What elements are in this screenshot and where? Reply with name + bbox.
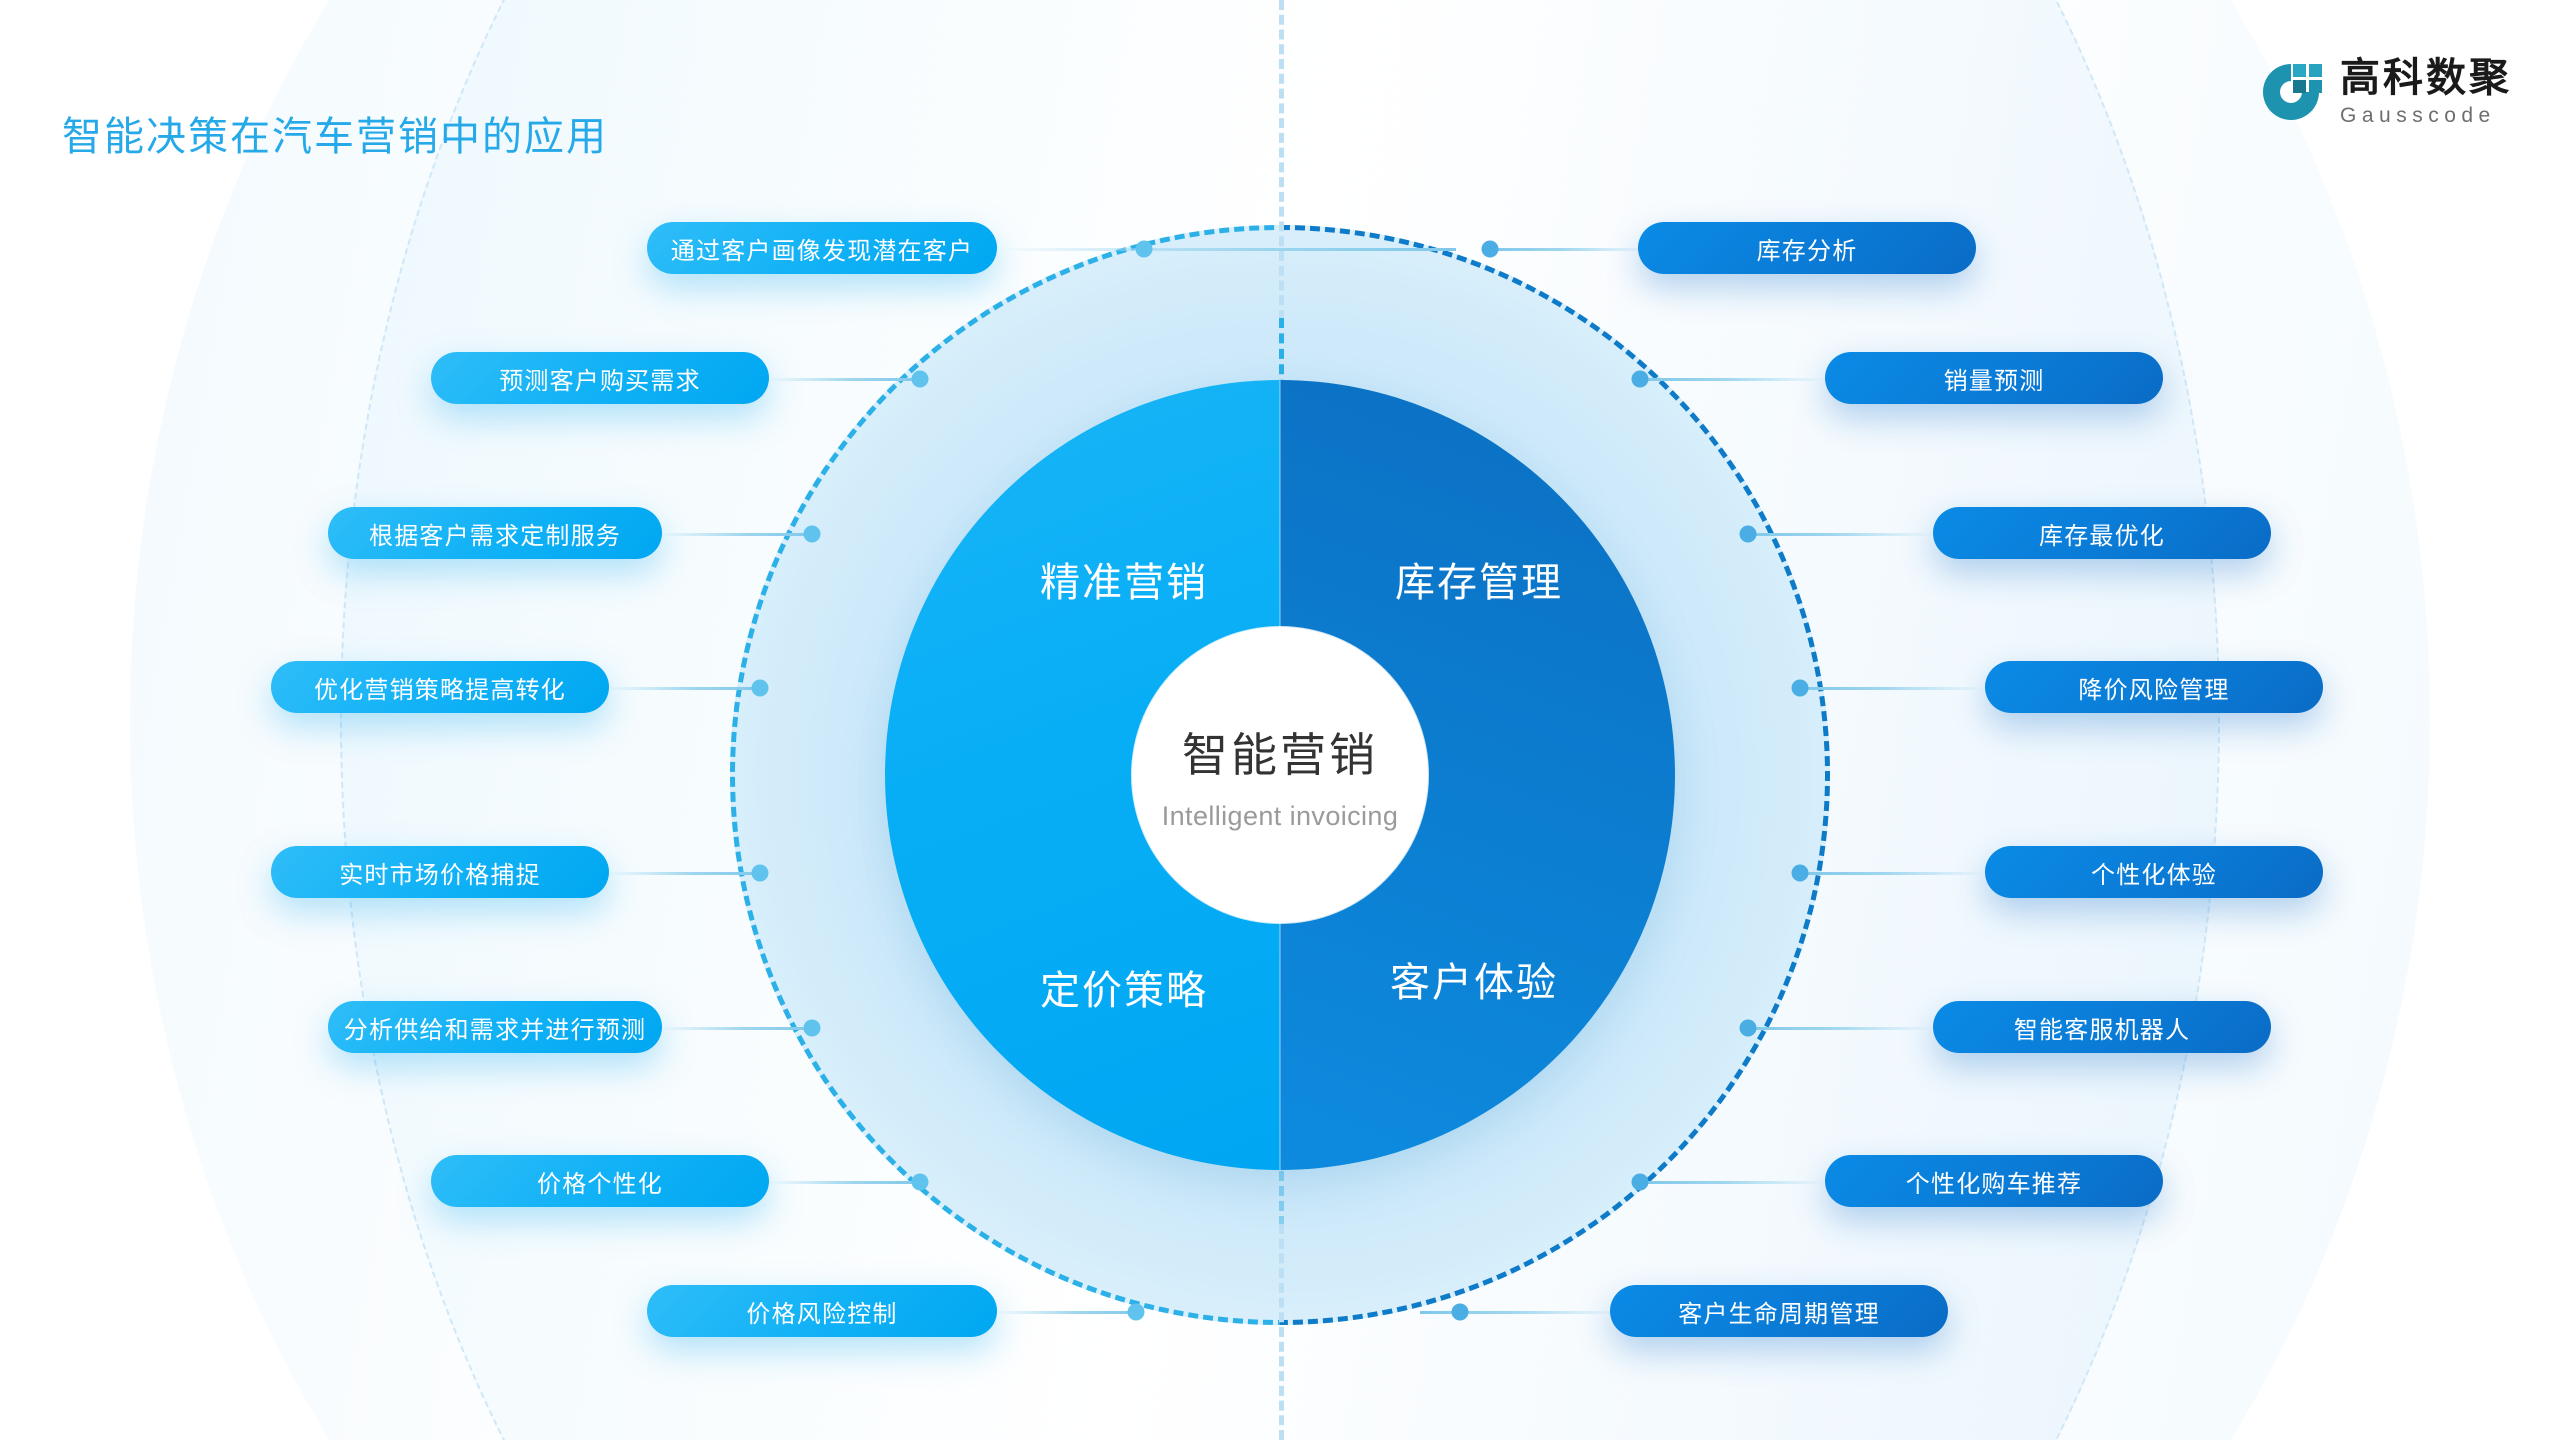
right-item-3[interactable]: 库存最优化 bbox=[1933, 507, 2271, 559]
brand-text: 高科数聚 Gausscode bbox=[2340, 58, 2512, 126]
left-item-4[interactable]: 优化营销策略提高转化 bbox=[271, 661, 609, 713]
right-item-2[interactable]: 销量预测 bbox=[1825, 352, 2163, 404]
connector-node-right-6 bbox=[1740, 1020, 1757, 1037]
left-item-2[interactable]: 预测客户购买需求 bbox=[431, 352, 769, 404]
connector-right-4 bbox=[1800, 687, 1985, 690]
right-item-1[interactable]: 库存分析 bbox=[1638, 222, 1976, 274]
connector-right-7 bbox=[1640, 1181, 1825, 1184]
connector-node-right-5 bbox=[1792, 865, 1809, 882]
connector-node-right-4 bbox=[1792, 680, 1809, 697]
connector-left-8 bbox=[996, 1311, 1141, 1314]
center-title-cn: 智能营销 bbox=[1182, 719, 1378, 785]
slide-canvas: 智能决策在汽车营销中的应用 高科数聚 Gausscode bbox=[0, 0, 2560, 1440]
gausscode-logo-icon bbox=[2260, 61, 2322, 123]
right-item-5[interactable]: 个性化体验 bbox=[1985, 846, 2323, 898]
connector-node-left-6 bbox=[804, 1020, 821, 1037]
quadrant-label-top-right: 库存管理 bbox=[1395, 550, 1563, 608]
left-item-3[interactable]: 根据客户需求定制服务 bbox=[328, 507, 662, 559]
connector-right-3 bbox=[1748, 533, 1933, 536]
left-item-1[interactable]: 通过客户画像发现潜在客户 bbox=[647, 222, 997, 274]
brand-name-en: Gausscode bbox=[2340, 105, 2512, 126]
connector-node-right-1 bbox=[1482, 241, 1499, 258]
connector-right-5 bbox=[1800, 872, 1985, 875]
left-item-7[interactable]: 价格个性化 bbox=[431, 1155, 769, 1207]
connector-node-right-3 bbox=[1740, 526, 1757, 543]
donut-center-hub: 智能营销 Intelligent invoicing bbox=[1132, 627, 1428, 923]
page-title: 智能决策在汽车营销中的应用 bbox=[62, 104, 608, 162]
center-title-en: Intelligent invoicing bbox=[1162, 801, 1399, 832]
connector-node-left-7 bbox=[912, 1174, 929, 1191]
main-donut-chart: 智能营销 Intelligent invoicing bbox=[885, 380, 1675, 1170]
connector-right-8 bbox=[1420, 1311, 1620, 1314]
connector-right-6 bbox=[1748, 1027, 1933, 1030]
quadrant-label-bottom-right: 客户体验 bbox=[1390, 950, 1558, 1008]
connector-node-left-8 bbox=[1128, 1304, 1145, 1321]
left-item-8[interactable]: 价格风险控制 bbox=[647, 1285, 997, 1337]
connector-node-right-2 bbox=[1632, 371, 1649, 388]
connector-node-left-1 bbox=[1136, 241, 1153, 258]
connector-left-3 bbox=[660, 533, 812, 536]
vertical-divider-bottom bbox=[1279, 1224, 1284, 1440]
right-item-8[interactable]: 客户生命周期管理 bbox=[1610, 1285, 1948, 1337]
right-item-6[interactable]: 智能客服机器人 bbox=[1933, 1001, 2271, 1053]
connector-left-6 bbox=[660, 1027, 812, 1030]
connector-node-left-3 bbox=[804, 526, 821, 543]
left-item-6[interactable]: 分析供给和需求并进行预测 bbox=[328, 1001, 662, 1053]
connector-node-right-8 bbox=[1452, 1304, 1469, 1321]
quadrant-label-bottom-left: 定价策略 bbox=[1040, 958, 1208, 1016]
connector-left-7 bbox=[768, 1181, 920, 1184]
right-item-4[interactable]: 降价风险管理 bbox=[1985, 661, 2323, 713]
connector-left-2 bbox=[768, 378, 920, 381]
brand-logo: 高科数聚 Gausscode bbox=[2260, 58, 2512, 126]
connector-left-1 bbox=[996, 248, 1456, 251]
right-item-7[interactable]: 个性化购车推荐 bbox=[1825, 1155, 2163, 1207]
connector-right-2 bbox=[1640, 378, 1825, 381]
connector-node-left-4 bbox=[752, 680, 769, 697]
connector-left-5 bbox=[608, 872, 760, 875]
connector-left-4 bbox=[608, 687, 760, 690]
brand-name-cn: 高科数聚 bbox=[2340, 58, 2512, 98]
connector-node-left-2 bbox=[912, 371, 929, 388]
vertical-divider-top bbox=[1279, 0, 1284, 320]
connector-node-right-7 bbox=[1632, 1174, 1649, 1191]
connector-node-left-5 bbox=[752, 865, 769, 882]
left-item-5[interactable]: 实时市场价格捕捉 bbox=[271, 846, 609, 898]
connector-right-1 bbox=[1490, 248, 1650, 251]
quadrant-label-top-left: 精准营销 bbox=[1040, 550, 1208, 608]
